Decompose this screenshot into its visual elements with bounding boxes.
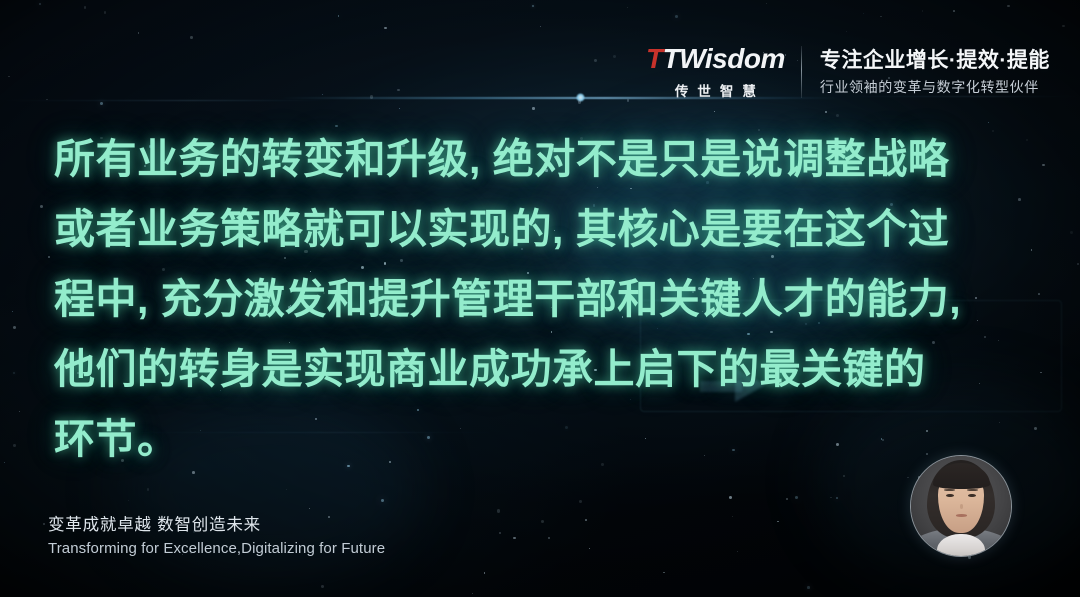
particle bbox=[84, 6, 87, 9]
particle bbox=[578, 100, 581, 103]
avatar-nose bbox=[960, 504, 964, 509]
particle bbox=[729, 496, 732, 499]
particle bbox=[399, 108, 400, 109]
particle bbox=[286, 489, 287, 490]
particle bbox=[579, 500, 582, 503]
particle bbox=[589, 548, 590, 549]
particle bbox=[1038, 293, 1040, 295]
particle bbox=[807, 586, 810, 589]
particle bbox=[190, 36, 193, 39]
brand-wordmark: TTWisdom bbox=[646, 45, 785, 73]
particle bbox=[147, 488, 149, 490]
particle bbox=[836, 114, 839, 117]
particle bbox=[1007, 5, 1010, 8]
particle bbox=[46, 99, 47, 100]
particle bbox=[1026, 139, 1028, 141]
particle bbox=[338, 15, 339, 16]
particle bbox=[484, 572, 486, 574]
particle bbox=[19, 411, 21, 413]
particle bbox=[370, 95, 373, 98]
particle bbox=[613, 55, 616, 58]
particle bbox=[540, 26, 541, 27]
particle bbox=[1062, 25, 1065, 28]
particle bbox=[532, 107, 534, 109]
particle bbox=[13, 326, 16, 329]
quote-line: 程中, 充分激发和提升管理干部和关键人才的能力, bbox=[54, 264, 1019, 334]
avatar-photo bbox=[911, 456, 1011, 556]
particle bbox=[1077, 263, 1079, 265]
particle bbox=[830, 497, 832, 499]
particle bbox=[766, 3, 767, 4]
particle bbox=[138, 32, 139, 33]
particle bbox=[384, 27, 387, 30]
particle bbox=[12, 311, 13, 312]
particle bbox=[714, 111, 715, 112]
particle bbox=[594, 59, 597, 62]
particle bbox=[39, 3, 41, 5]
light-streak-highlight bbox=[576, 93, 585, 102]
particle bbox=[585, 519, 587, 521]
brand-chinese-name: 传世智慧 bbox=[666, 80, 765, 100]
particle bbox=[627, 7, 629, 9]
avatar-collar bbox=[937, 534, 985, 557]
particle bbox=[513, 537, 516, 540]
brand-logo: TTWisdom 传世智慧 bbox=[646, 45, 801, 100]
quote-line: 环节。 bbox=[54, 404, 1019, 474]
particle bbox=[532, 5, 534, 7]
particle bbox=[381, 499, 384, 502]
particle bbox=[953, 10, 955, 12]
particle bbox=[128, 500, 129, 501]
particle bbox=[786, 498, 788, 500]
particle bbox=[627, 99, 630, 102]
footer-slogan-english: Transforming for Excellence,Digitalizing… bbox=[48, 539, 385, 559]
quote-line: 或者业务策略就可以实现的, 其核心是要在这个过 bbox=[54, 194, 1019, 264]
brand-wordmark-accent-letter: T bbox=[646, 43, 663, 74]
particle bbox=[836, 497, 838, 499]
particle bbox=[843, 475, 845, 477]
footer-slogan: 变革成就卓越 数智创造未来 Transforming for Excellenc… bbox=[48, 514, 385, 559]
particle bbox=[846, 31, 847, 32]
brand-sub-slogan: 行业领袖的变革与数字化转型伙伴 bbox=[820, 79, 1050, 95]
particle bbox=[104, 11, 107, 14]
avatar-mouth bbox=[956, 514, 967, 517]
particle bbox=[13, 372, 15, 374]
presentation-slide: TTWisdom 传世智慧 专注企业增长·提效·提能 行业领袖的变革与数字化转型… bbox=[0, 0, 1080, 597]
particle bbox=[13, 444, 16, 447]
particle bbox=[675, 15, 678, 18]
particle bbox=[4, 462, 5, 463]
particle bbox=[1040, 372, 1042, 374]
particle bbox=[397, 89, 400, 92]
particle bbox=[322, 94, 323, 95]
brand-header: TTWisdom 传世智慧 专注企业增长·提效·提能 行业领袖的变革与数字化转型… bbox=[646, 38, 1050, 106]
particle bbox=[1042, 164, 1044, 166]
particle bbox=[497, 509, 500, 512]
quote-block: 所有业务的转变和升级, 绝对不是只是说调整战略 或者业务策略就可以实现的, 其核… bbox=[54, 124, 1019, 474]
quote-line: 他们的转身是实现商业成功承上启下的最关键的 bbox=[54, 334, 1019, 404]
brand-taglines: 专注企业增长·提效·提能 行业领袖的变革与数字化转型伙伴 bbox=[802, 49, 1050, 95]
particle bbox=[988, 122, 989, 123]
particle bbox=[548, 537, 550, 539]
particle bbox=[100, 102, 103, 105]
particle bbox=[663, 572, 665, 574]
particle bbox=[8, 76, 10, 78]
particle bbox=[499, 532, 502, 535]
particle bbox=[40, 205, 43, 208]
particle bbox=[825, 111, 827, 113]
light-streak bbox=[0, 100, 330, 101]
particle bbox=[472, 593, 473, 594]
particle bbox=[1031, 249, 1033, 251]
brand-slogan: 专注企业增长·提效·提能 bbox=[820, 49, 1050, 73]
particle bbox=[737, 551, 739, 553]
particle bbox=[863, 13, 864, 14]
particle bbox=[795, 496, 798, 499]
particle bbox=[309, 508, 310, 509]
particle bbox=[321, 585, 324, 588]
particle bbox=[1070, 231, 1073, 234]
particle bbox=[922, 10, 923, 11]
brand-wordmark-rest: TWisdom bbox=[663, 43, 785, 74]
particle bbox=[1034, 427, 1037, 430]
particle bbox=[43, 523, 45, 525]
particle bbox=[48, 256, 50, 258]
quote-line: 所有业务的转变和升级, 绝对不是只是说调整战略 bbox=[54, 124, 1019, 194]
particle bbox=[732, 516, 734, 518]
avatar bbox=[910, 455, 1012, 557]
footer-slogan-chinese: 变革成就卓越 数智创造未来 bbox=[48, 514, 385, 536]
particle bbox=[541, 520, 544, 523]
particle bbox=[907, 477, 909, 479]
particle bbox=[777, 521, 779, 523]
particle bbox=[880, 16, 882, 18]
